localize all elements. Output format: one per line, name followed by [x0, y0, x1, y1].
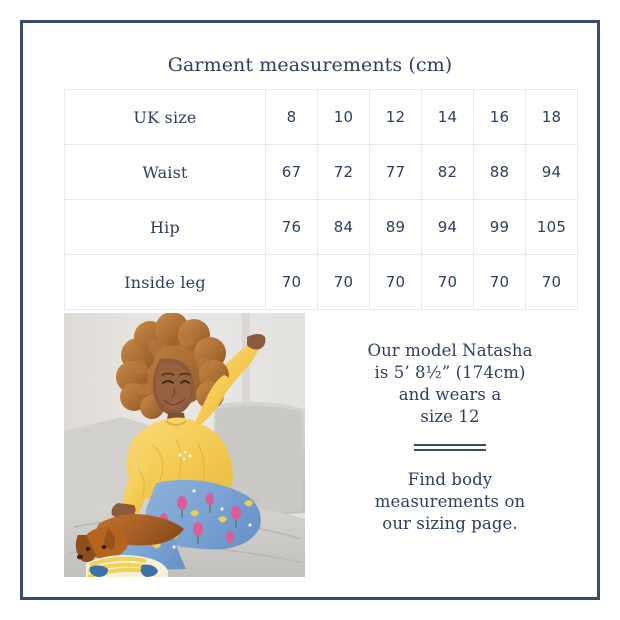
waist-size-8: 67 — [266, 145, 318, 200]
inside-leg-size-18: 70 — [526, 255, 578, 310]
divider-rule-top — [414, 444, 486, 446]
info-column: Our model Natasha is 5’ 8½” (174cm) and … — [325, 340, 575, 535]
row-label-inside-leg: Inside leg — [65, 255, 266, 310]
table-header-row: UK size 8 10 12 14 16 18 — [65, 90, 578, 145]
hip-size-18: 105 — [526, 200, 578, 255]
hip-size-10: 84 — [318, 200, 370, 255]
table-row-hip: Hip 76 84 89 94 99 105 — [65, 200, 578, 255]
header-cell-size-14: 14 — [422, 90, 474, 145]
sizing-note-line-1: Find body — [325, 469, 575, 491]
model-info-line-2: is 5’ 8½” (174cm) — [325, 362, 575, 384]
header-cell-size-8: 8 — [266, 90, 318, 145]
hip-size-14: 94 — [422, 200, 474, 255]
header-cell-size-18: 18 — [526, 90, 578, 145]
inside-leg-size-8: 70 — [266, 255, 318, 310]
garment-measurements-table: UK size 8 10 12 14 16 18 Waist 67 72 77 … — [64, 89, 578, 310]
model-info-text: Our model Natasha is 5’ 8½” (174cm) and … — [325, 340, 575, 428]
double-rule-divider — [414, 444, 486, 451]
table-row-waist: Waist 67 72 77 82 88 94 — [65, 145, 578, 200]
page-title: Garment measurements (cm) — [20, 54, 600, 76]
waist-size-18: 94 — [526, 145, 578, 200]
header-cell-size-12: 12 — [370, 90, 422, 145]
model-info-line-4: size 12 — [325, 406, 575, 428]
inside-leg-size-10: 70 — [318, 255, 370, 310]
divider-rule-bottom — [414, 449, 486, 451]
size-guide-page: Garment measurements (cm) UK size 8 10 1… — [0, 0, 620, 620]
model-photo — [64, 313, 305, 577]
hip-size-8: 76 — [266, 200, 318, 255]
header-cell-uk-size: UK size — [65, 90, 266, 145]
row-label-waist: Waist — [65, 145, 266, 200]
model-info-line-3: and wears a — [325, 384, 575, 406]
waist-size-10: 72 — [318, 145, 370, 200]
waist-size-14: 82 — [422, 145, 474, 200]
hip-size-16: 99 — [474, 200, 526, 255]
table-row-inside-leg: Inside leg 70 70 70 70 70 70 — [65, 255, 578, 310]
sizing-note-line-2: measurements on — [325, 491, 575, 513]
model-info-line-1: Our model Natasha — [325, 340, 575, 362]
sizing-note-line-3: our sizing page. — [325, 513, 575, 535]
inside-leg-size-12: 70 — [370, 255, 422, 310]
header-cell-size-10: 10 — [318, 90, 370, 145]
header-cell-size-16: 16 — [474, 90, 526, 145]
sizing-page-text: Find body measurements on our sizing pag… — [325, 469, 575, 535]
row-label-hip: Hip — [65, 200, 266, 255]
waist-size-12: 77 — [370, 145, 422, 200]
inside-leg-size-16: 70 — [474, 255, 526, 310]
inside-leg-size-14: 70 — [422, 255, 474, 310]
hip-size-12: 89 — [370, 200, 422, 255]
waist-size-16: 88 — [474, 145, 526, 200]
